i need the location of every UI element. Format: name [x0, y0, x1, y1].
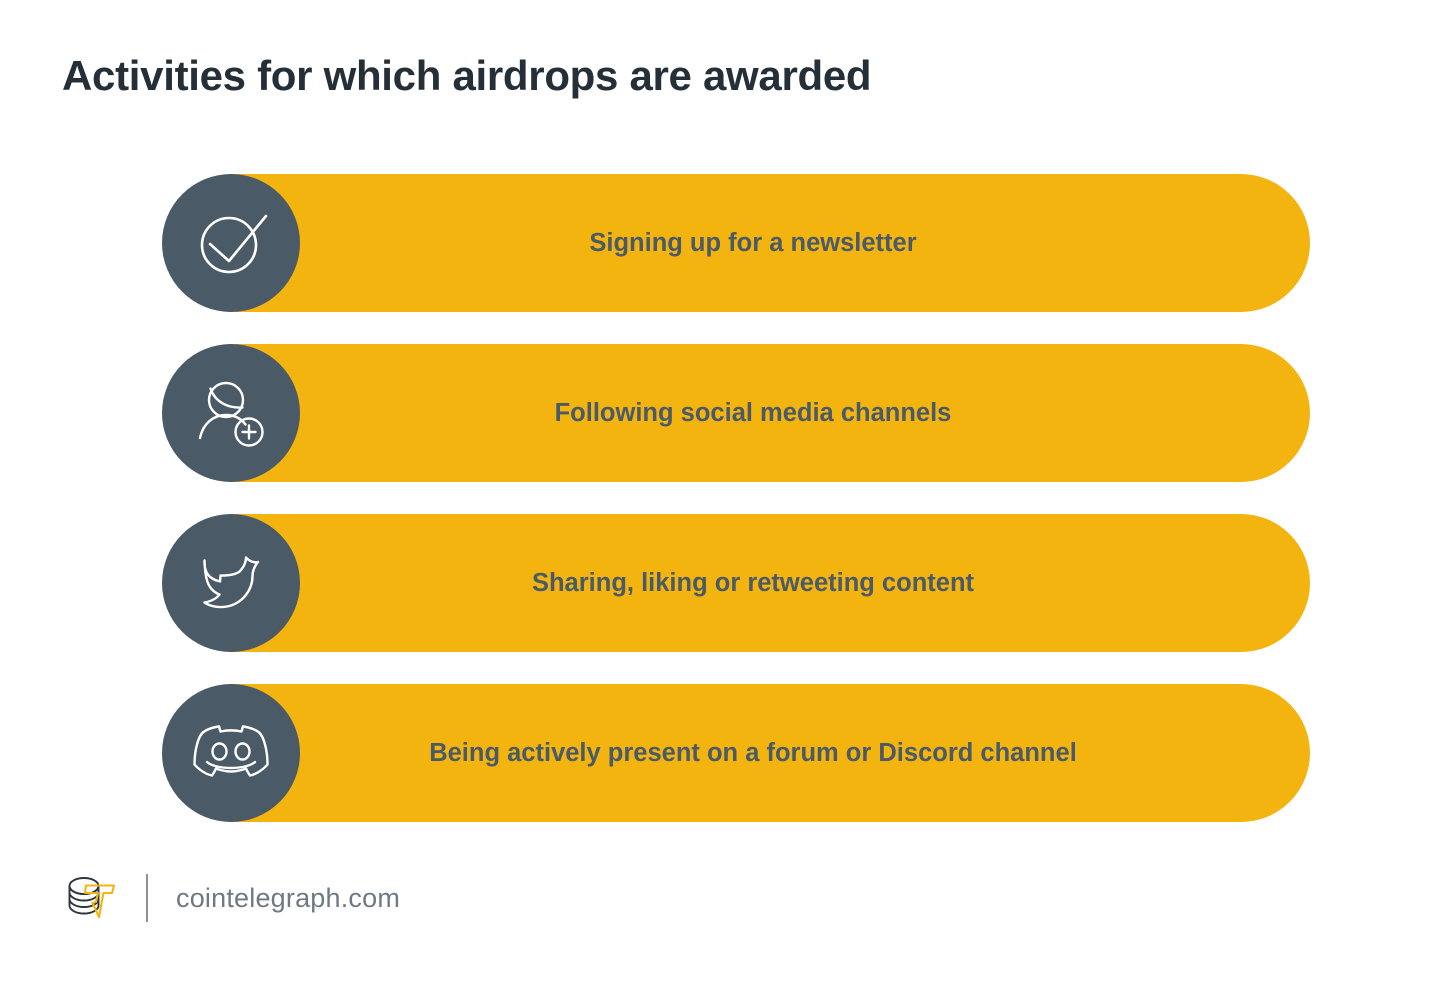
activity-label: Being actively present on a forum or Dis…: [429, 736, 1077, 770]
icon-badge: [162, 344, 300, 482]
icon-badge: [162, 684, 300, 822]
infographic-page: Activities for which airdrops are awarde…: [0, 0, 1450, 981]
activity-bar: Signing up for a newsletter: [228, 174, 1310, 312]
discord-icon: [191, 720, 271, 786]
list-item: Being actively present on a forum or Dis…: [0, 684, 1450, 822]
page-title: Activities for which airdrops are awarde…: [62, 52, 871, 100]
activity-bar: Being actively present on a forum or Dis…: [228, 684, 1310, 822]
activity-list: Signing up for a newsletter Following so…: [0, 174, 1450, 854]
activity-label: Sharing, liking or retweeting content: [532, 566, 974, 600]
footer-divider: [146, 874, 148, 922]
activity-bar: Following social media channels: [228, 344, 1310, 482]
list-item: Sharing, liking or retweeting content: [0, 514, 1450, 652]
activity-label: Signing up for a newsletter: [589, 226, 916, 260]
check-circle-icon: [192, 204, 270, 282]
cointelegraph-logo: [62, 872, 120, 924]
add-user-icon: [193, 375, 269, 451]
icon-badge: [162, 174, 300, 312]
twitter-bird-icon: [194, 546, 268, 620]
footer-url: cointelegraph.com: [176, 883, 400, 914]
icon-badge: [162, 514, 300, 652]
footer: cointelegraph.com: [62, 866, 400, 930]
activity-bar: Sharing, liking or retweeting content: [228, 514, 1310, 652]
list-item: Following social media channels: [0, 344, 1450, 482]
list-item: Signing up for a newsletter: [0, 174, 1450, 312]
activity-label: Following social media channels: [555, 396, 952, 430]
